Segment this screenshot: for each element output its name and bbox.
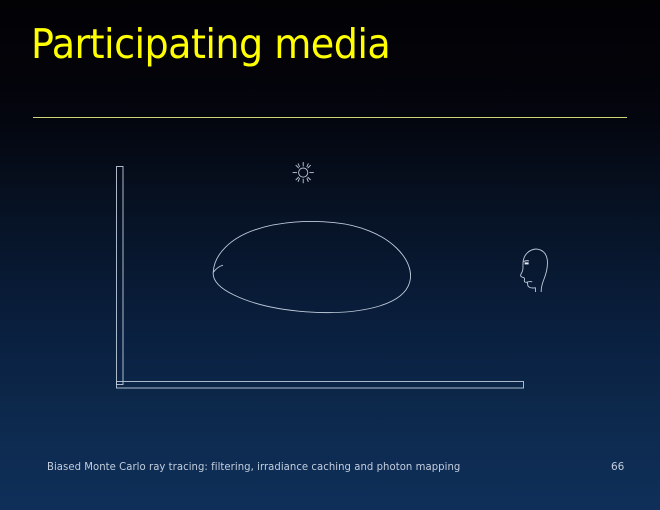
footer-title: Biased Monte Carlo ray tracing: filterin… [47,461,460,473]
page-number: 66 [611,461,624,473]
scene-diagram [0,0,660,510]
sun-light-icon [293,162,314,183]
slide-canvas: Participating media [0,0,660,510]
wall-vertical [117,167,124,385]
media-blob [213,221,410,312]
viewer-head-icon [521,249,548,292]
floor-horizontal [117,382,524,389]
media-blob-cusp [213,265,223,272]
